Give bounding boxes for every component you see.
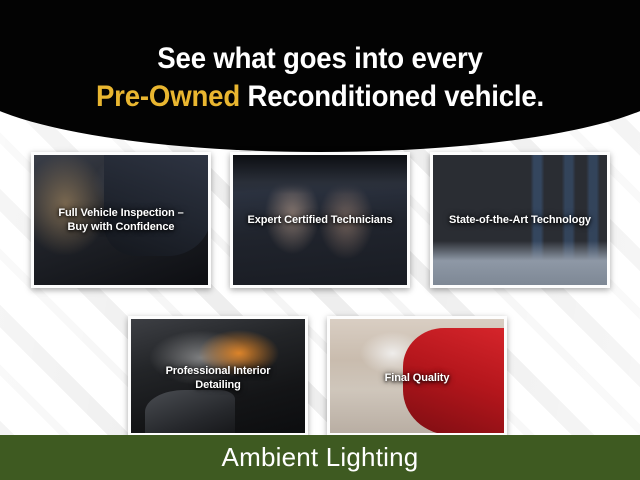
banner-label: Ambient Lighting	[222, 442, 419, 473]
card-caption-line-1: Professional Interior	[166, 365, 271, 377]
card-caption-line-2: Buy with Confidence	[68, 221, 175, 233]
card-expert-certified-technicians[interactable]: Expert Certified Technicians	[230, 152, 410, 288]
promo-slide: See what goes into every Pre-Owned Recon…	[0, 0, 640, 480]
card-caption-line-1: Full Vehicle Inspection –	[58, 207, 183, 219]
card-caption: State-of-the-Art Technology	[437, 213, 603, 227]
hero-headline-line-1: See what goes into every	[26, 40, 615, 78]
card-professional-interior-detailing[interactable]: Professional Interior Detailing	[128, 316, 308, 436]
bottom-banner: Ambient Lighting	[0, 435, 640, 480]
card-caption: Expert Certified Technicians	[237, 213, 403, 227]
card-caption-line-1: Expert Certified Technicians	[248, 214, 393, 226]
hero-headline: See what goes into every Pre-Owned Recon…	[26, 40, 615, 116]
card-caption-line-1: Final Quality	[385, 372, 450, 384]
card-final-quality[interactable]: Final Quality	[327, 316, 507, 436]
hero-headline-line-2: Pre-Owned Reconditioned vehicle.	[26, 78, 615, 116]
hero-headline-line-2-rest: Reconditioned vehicle.	[240, 80, 544, 113]
card-full-vehicle-inspection[interactable]: Full Vehicle Inspection – Buy with Confi…	[31, 152, 211, 288]
card-caption: Full Vehicle Inspection – Buy with Confi…	[38, 206, 204, 234]
card-caption-line-1: State-of-the-Art Technology	[449, 214, 591, 226]
card-caption: Professional Interior Detailing	[135, 364, 301, 392]
card-caption: Final Quality	[334, 371, 500, 385]
card-caption-line-2: Detailing	[195, 379, 241, 391]
card-state-of-the-art-technology[interactable]: State-of-the-Art Technology	[430, 152, 610, 288]
hero-highlight-pre-owned: Pre-Owned	[96, 80, 240, 113]
